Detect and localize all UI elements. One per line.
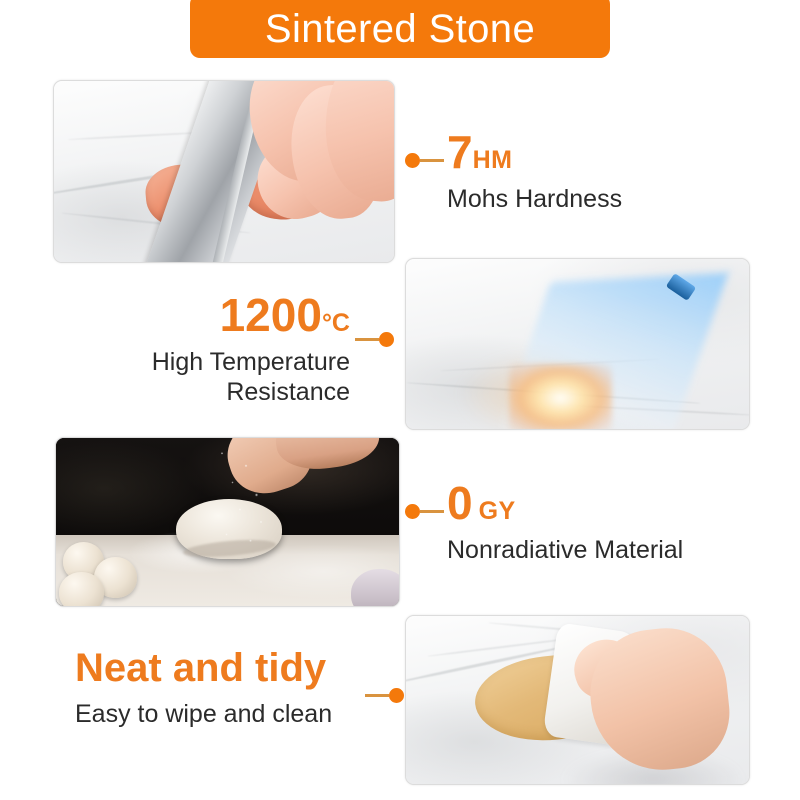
infographic-page: Sintered Stone 7HM Mohs Hardness [0,0,800,800]
connector-nonradiative [405,504,444,519]
spec-value-unit: °C [322,309,350,337]
spec-label-high-temperature-line1: High Temperature [95,348,350,378]
photo-dough-with-flour [55,437,400,607]
connector-line [420,510,444,513]
flame-hot-spot [509,364,612,429]
connector-neat-and-tidy [365,688,404,703]
spec-mohs-hardness: 7HM Mohs Hardness [447,129,622,215]
photo-knife-cutting-salmon [53,80,395,263]
photo-knife-content [54,81,394,262]
egg [59,572,104,606]
spec-label-neat-and-tidy: Easy to wipe and clean [75,700,360,730]
photo-dough-content [56,438,399,606]
connector-mohs-hardness [405,153,444,168]
falling-flour [207,445,282,549]
spec-value-row: 7HM [447,129,622,175]
photo-wipe-content [406,616,749,784]
spec-value-number: 7 [447,126,473,178]
spec-nonradiative: 0GY Nonradiative Material [447,480,683,566]
spec-high-temperature: 1200°C High Temperature Resistance [95,292,350,407]
photo-wiping-spill [405,615,750,785]
spec-label-nonradiative: Nonradiative Material [447,536,683,566]
photo-flame-content [406,259,749,429]
spec-value-number: 0 [447,477,473,529]
bullet-dot-icon [405,153,420,168]
title-banner: Sintered Stone [190,0,610,58]
spec-value-row: 0GY [447,480,683,526]
bullet-dot-icon [389,688,404,703]
spec-value-row: 1200°C [95,292,350,338]
connector-line [420,159,444,162]
spec-value-unit: GY [479,497,516,525]
spec-value-number: 1200 [220,289,322,341]
page-title: Sintered Stone [265,3,535,49]
photo-torch-flame-on-stone [405,258,750,430]
spec-value-unit: HM [473,146,513,174]
spec-value-neat-and-tidy: Neat and tidy [75,648,360,688]
spec-neat-and-tidy: Neat and tidy Easy to wipe and clean [75,648,360,730]
spec-label-high-temperature-line2: Resistance [95,378,350,408]
connector-high-temperature [355,332,394,347]
connector-line [355,338,379,341]
connector-line [365,694,389,697]
bullet-dot-icon [379,332,394,347]
spec-label-mohs-hardness: Mohs Hardness [447,185,622,215]
bullet-dot-icon [405,504,420,519]
